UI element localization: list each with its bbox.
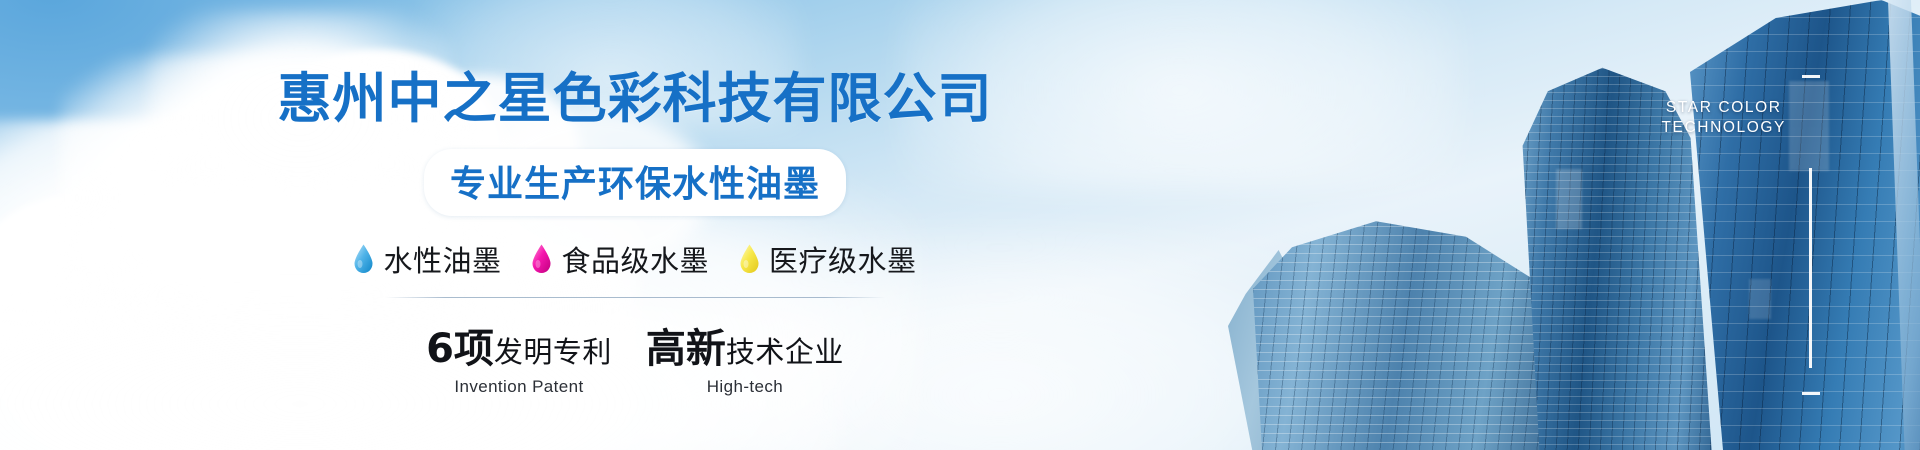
building-brand-line1: STAR COLOR (1661, 98, 1786, 118)
credential-highlight: 高新 (646, 316, 726, 374)
accent-cap-top (1802, 75, 1820, 78)
building-brand-text: STAR COLOR TECHNOLOGY (1661, 98, 1786, 137)
credential-rest: 发明专利 (494, 329, 612, 371)
water-drop-icon (739, 244, 760, 274)
credential-item-hightech: 高新 技术企业 High-tech (646, 316, 844, 397)
water-drop-icon (531, 244, 552, 274)
feature-label: 水性油墨 (383, 238, 501, 280)
building-rounded-tower (1250, 190, 1550, 450)
section-divider (385, 297, 885, 298)
feature-item-food-grade: 食品级水墨 (531, 238, 709, 280)
company-banner: Star Color STAR COLOR TECHNOLOGY 惠州中之星色彩… (0, 0, 1920, 450)
credential-rest: 技术企业 (726, 329, 844, 371)
building-brand-line2: TECHNOLOGY (1661, 118, 1786, 138)
credential-item-patent: 6项 发明专利 Invention Patent (426, 316, 612, 397)
credential-highlight: 6项 (426, 316, 494, 374)
credential-cn: 6项 发明专利 (426, 316, 612, 374)
feature-list: 水性油墨 食品级水墨 (353, 238, 916, 280)
subtitle-text: 专业生产环保水性油墨 (450, 164, 820, 205)
feature-item-water-ink: 水性油墨 (353, 238, 501, 280)
water-drop-icon (353, 244, 374, 274)
credential-en: Invention Patent (454, 377, 583, 397)
feature-label: 医疗级水墨 (769, 238, 917, 280)
feature-label: 食品级水墨 (561, 238, 709, 280)
building-main-tower (1690, 0, 1920, 450)
feature-item-medical-grade: 医疗级水墨 (739, 238, 917, 280)
banner-content: 惠州中之星色彩科技有限公司 专业生产环保水性油墨 水性油墨 (0, 0, 1270, 450)
accent-vertical-line (1809, 168, 1812, 368)
skyscraper-photo: STAR COLOR TECHNOLOGY (1220, 0, 1920, 450)
credential-cn: 高新 技术企业 (646, 316, 844, 374)
company-title: 惠州中之星色彩科技有限公司 (278, 54, 993, 133)
subtitle-pill: 专业生产环保水性油墨 (424, 149, 846, 216)
accent-cap-bottom (1802, 392, 1820, 395)
credential-list: 6项 发明专利 Invention Patent 高新 技术企业 High-te… (426, 316, 844, 397)
credential-en: High-tech (707, 377, 783, 397)
